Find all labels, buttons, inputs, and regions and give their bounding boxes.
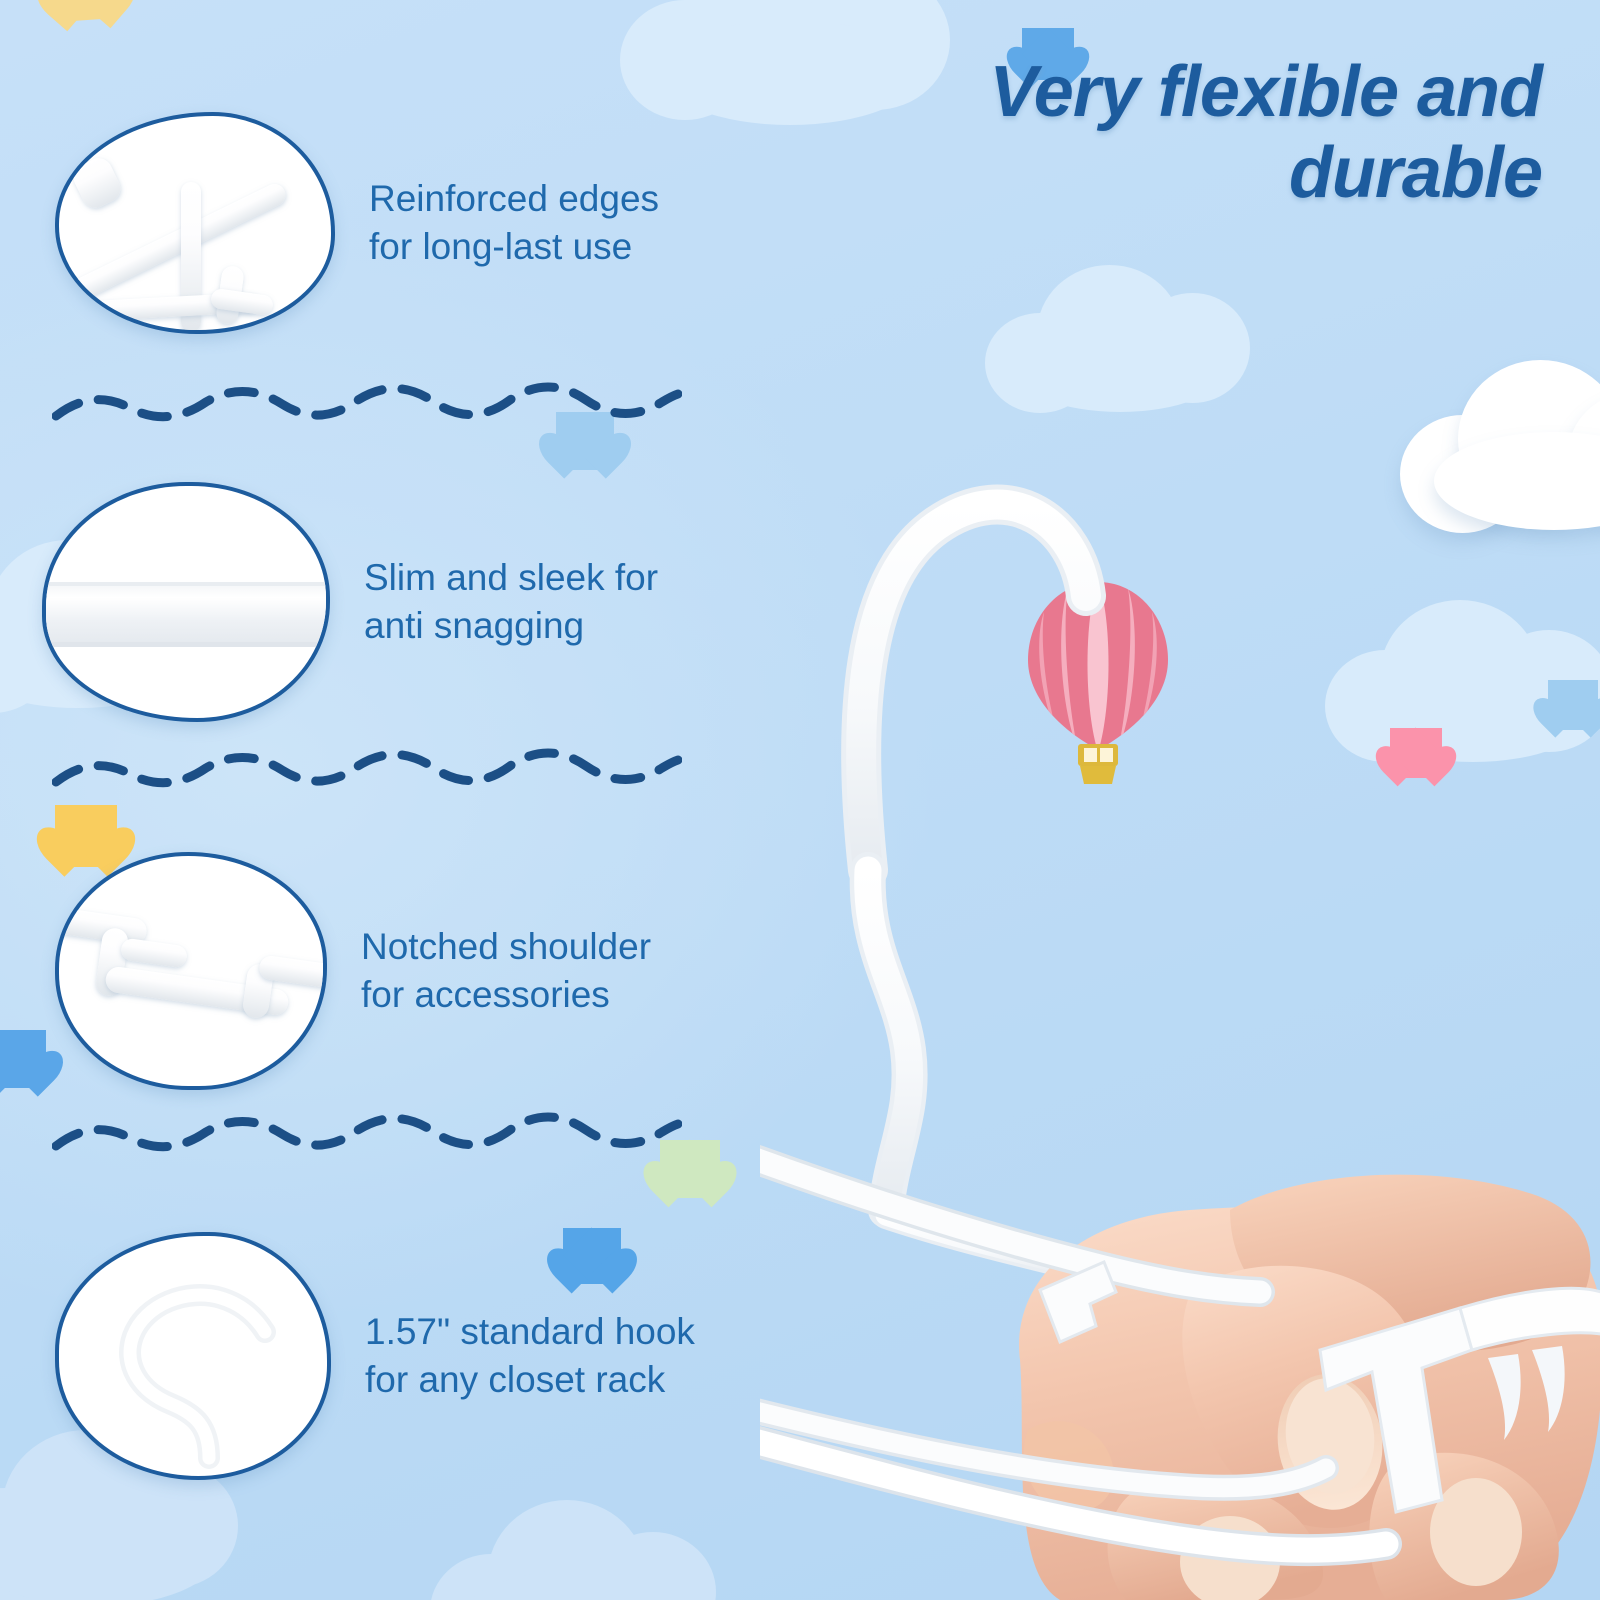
callout-standard-hook-icon bbox=[55, 1232, 331, 1480]
callout-slim-sleek-icon bbox=[42, 482, 330, 722]
infographic-canvas: Very flexible and durable Reinforced edg… bbox=[0, 0, 1600, 1600]
feature-label-reinforced-edges: Reinforced edges for long-last use bbox=[369, 175, 659, 271]
wavy-dashed-divider-3-svg bbox=[52, 1112, 682, 1158]
hook-shape-svg bbox=[59, 1236, 331, 1480]
feature-label-standard-hook: 1.57" standard hook for any closet rack bbox=[365, 1308, 695, 1404]
feature-slim-sleek: Slim and sleek for anti snagging bbox=[42, 482, 658, 722]
callout-notched-shoulder-icon bbox=[55, 852, 327, 1090]
headline-line-1: Very flexible and bbox=[782, 52, 1542, 133]
wavy-dashed-divider-2 bbox=[52, 748, 682, 799]
heart-yellow-top-left bbox=[53, 0, 119, 22]
wavy-dashed-divider-1-svg bbox=[52, 382, 682, 428]
feature-reinforced-edges: Reinforced edges for long-last use bbox=[55, 112, 659, 334]
feature-label-slim-sleek: Slim and sleek for anti snagging bbox=[364, 554, 658, 650]
wavy-dashed-divider-1 bbox=[52, 382, 682, 433]
feature-notched-shoulder: Notched shoulder for accessories bbox=[55, 852, 651, 1090]
wavy-dashed-divider-3 bbox=[52, 1112, 682, 1163]
callout-reinforced-edges-icon bbox=[55, 112, 335, 334]
cloud-bottom-center bbox=[430, 1500, 720, 1600]
wavy-dashed-divider-2-svg bbox=[52, 748, 682, 794]
heart-blue-left bbox=[0, 1030, 46, 1088]
feature-label-notched-shoulder: Notched shoulder for accessories bbox=[361, 923, 651, 1019]
page-title: Very flexible and durable bbox=[782, 52, 1542, 213]
feature-standard-hook: 1.57" standard hook for any closet rack bbox=[55, 1232, 695, 1480]
headline-line-2: durable bbox=[782, 133, 1542, 214]
hand-flexing-white-hanger-photo bbox=[760, 250, 1600, 1600]
